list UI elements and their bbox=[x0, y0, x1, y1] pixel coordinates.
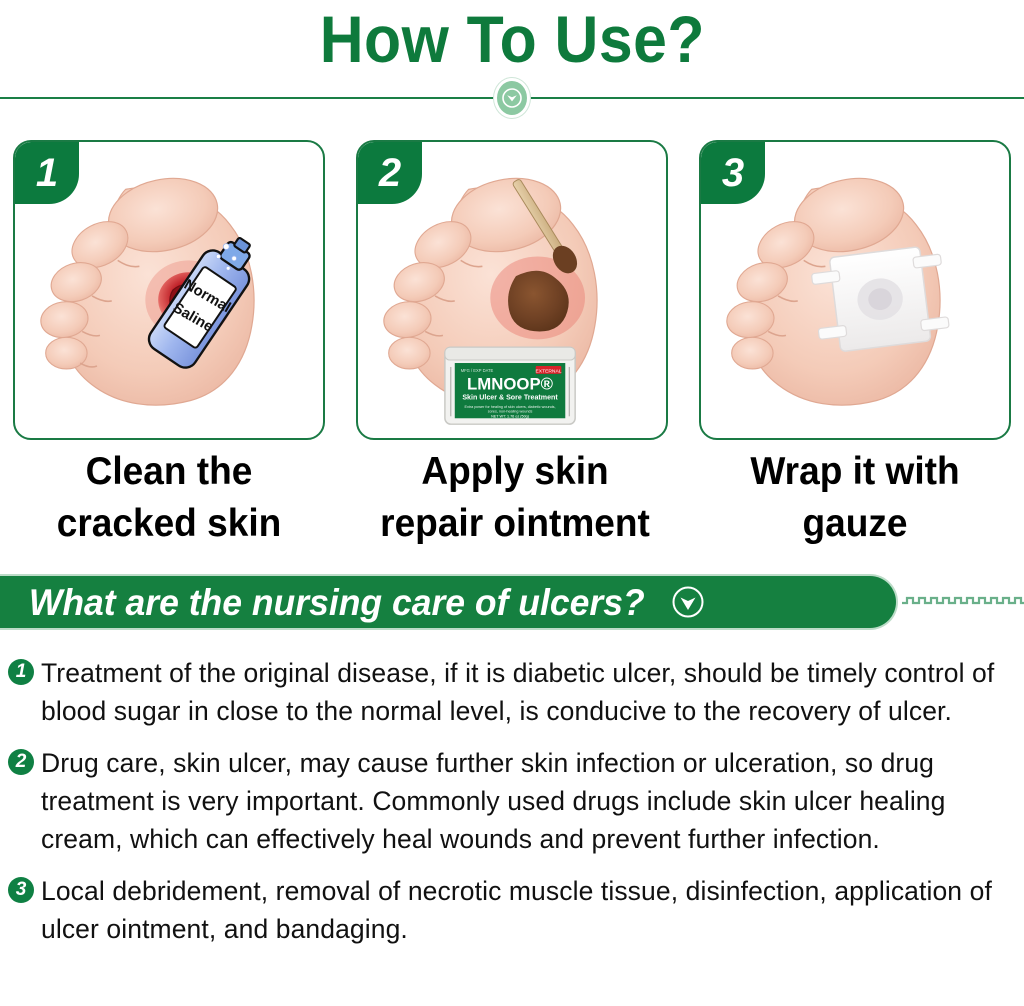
step-number-1: 1 bbox=[36, 153, 58, 193]
step-number-3: 3 bbox=[722, 153, 744, 193]
jar-brand: LMNOOP® bbox=[467, 375, 554, 394]
header: How To Use? bbox=[0, 0, 1024, 78]
jar-fineprint-2: sores, non-healing wounds bbox=[488, 409, 533, 413]
step-caption-2: Apply skin repair ointment bbox=[358, 446, 672, 550]
jar-topline: MFG / EXP DATE bbox=[461, 368, 494, 373]
step-captions: Clean the cracked skin Apply skin repair… bbox=[0, 446, 1024, 556]
step-number-2: 2 bbox=[379, 153, 401, 193]
banner-title: What are the nursing care of ulcers? bbox=[29, 584, 645, 621]
list-item-text-1: Treatment of the original disease, if it… bbox=[41, 654, 1010, 730]
chevron-down-icon bbox=[494, 78, 530, 118]
step-card-1[interactable]: Normal Saline 1 bbox=[13, 140, 325, 440]
step-caption-1-line2: cracked skin bbox=[12, 498, 326, 550]
section-banner: What are the nursing care of ulcers? bbox=[0, 572, 1024, 634]
page-title: How To Use? bbox=[319, 6, 704, 72]
jar-subtitle: Skin Ulcer & Sore Treatment bbox=[462, 394, 558, 402]
list-item-badge-2: 2 bbox=[8, 749, 34, 775]
step-number-badge-2: 2 bbox=[358, 142, 422, 204]
jar-netwt: NET WT: 1.76 oz (50g) bbox=[491, 414, 530, 418]
step-number-badge-1: 1 bbox=[15, 142, 79, 204]
list-item: 2 Drug care, skin ulcer, may cause furth… bbox=[8, 744, 1010, 858]
step-caption-1-line1: Clean the bbox=[12, 446, 326, 498]
list-item-badge-1: 1 bbox=[8, 659, 34, 685]
nursing-care-list: 1 Treatment of the original disease, if … bbox=[0, 654, 1024, 1006]
step-caption-3: Wrap it with gauze bbox=[698, 446, 1012, 550]
step-number-badge-3: 3 bbox=[701, 142, 765, 204]
list-item: 3 Local debridement, removal of necrotic… bbox=[8, 872, 1010, 948]
step-caption-2-line1: Apply skin bbox=[358, 446, 672, 498]
step-caption-3-line1: Wrap it with bbox=[698, 446, 1012, 498]
nursing-care-banner[interactable]: What are the nursing care of ulcers? bbox=[0, 574, 898, 630]
jar-fineprint-1: Extra power for healing of skin ulcers, … bbox=[464, 405, 555, 409]
step-card-3[interactable]: 3 bbox=[699, 140, 1011, 440]
decorative-zigzag-line bbox=[902, 594, 1024, 608]
infographic-page: How To Use? bbox=[0, 0, 1024, 1006]
list-item: 1 Treatment of the original disease, if … bbox=[8, 654, 1010, 730]
steps-gallery: Normal Saline 1 bbox=[0, 140, 1024, 440]
list-item-text-2: Drug care, skin ulcer, may cause further… bbox=[41, 744, 1010, 858]
step-caption-1: Clean the cracked skin bbox=[12, 446, 326, 550]
step-caption-2-line2: repair ointment bbox=[358, 498, 672, 550]
step-card-2[interactable]: EXTERNAL MFG / EXP DATE LMNOOP® Skin Ulc… bbox=[356, 140, 668, 440]
list-item-badge-3: 3 bbox=[8, 877, 34, 903]
step-caption-3-line2: gauze bbox=[698, 498, 1012, 550]
chevron-down-circle-icon[interactable] bbox=[671, 585, 705, 619]
jar-external-badge: EXTERNAL bbox=[536, 368, 562, 374]
header-divider bbox=[0, 78, 1024, 118]
list-item-text-3: Local debridement, removal of necrotic m… bbox=[41, 872, 1010, 948]
